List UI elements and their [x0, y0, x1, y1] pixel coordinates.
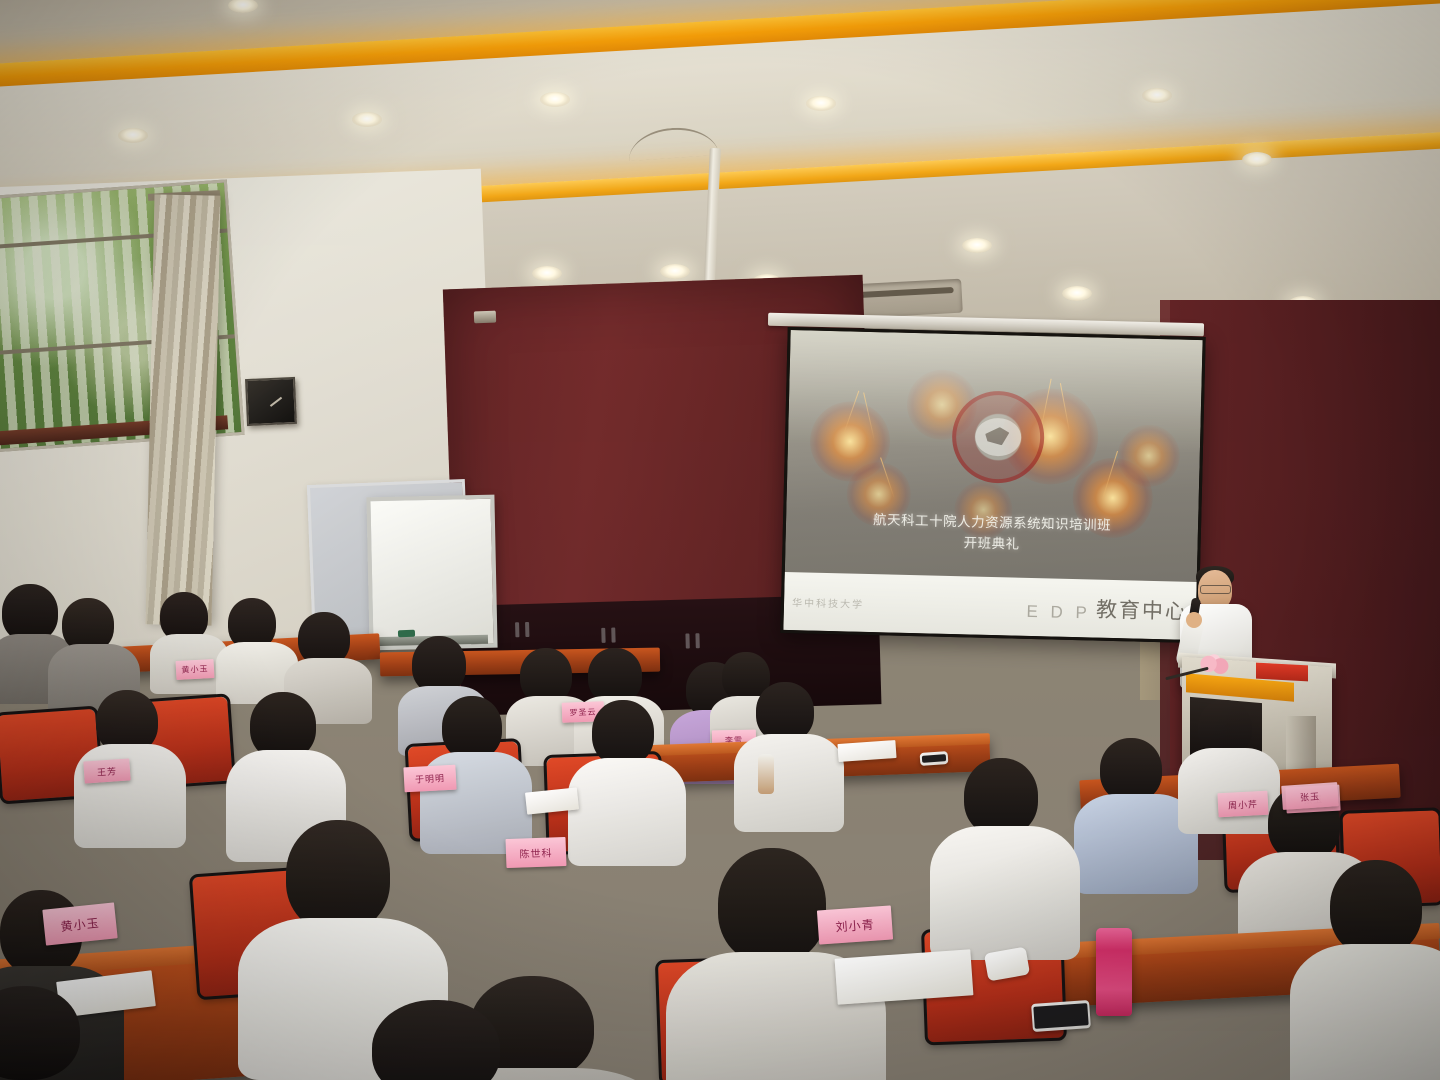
wall-speaker-icon: [474, 311, 496, 324]
slide-footer-org-logo: 华中科技大学: [792, 594, 864, 611]
handout-paper: [835, 949, 974, 1004]
attendee-torso: [1290, 944, 1440, 1080]
attendee-head: [718, 848, 826, 964]
attendee-head: [592, 700, 654, 766]
attendee-head: [1330, 860, 1422, 956]
water-bottle[interactable]: [1096, 928, 1132, 1016]
name-card: 于明明: [403, 765, 456, 793]
podium-stem: [1286, 716, 1316, 776]
whiteboard-front[interactable]: [366, 495, 497, 651]
downlight: [962, 238, 992, 253]
name-card: 王芳: [83, 758, 130, 783]
wall-clock-icon: [245, 377, 297, 426]
whiteboard-marker[interactable]: [398, 630, 415, 638]
downlight: [1062, 286, 1092, 301]
name-card: 周小芹: [1217, 791, 1268, 818]
speaker-hand: [1186, 612, 1202, 628]
slide-footer-edp-group: E D P 教育中心: [872, 588, 1189, 626]
cabinet-handle[interactable]: [601, 628, 605, 643]
name-card: 刘小青: [817, 905, 893, 944]
downlight: [352, 112, 382, 127]
curtain[interactable]: [146, 194, 221, 625]
smartphone[interactable]: [920, 751, 949, 766]
downlight: [1242, 152, 1272, 167]
podium-flowers: [1196, 654, 1232, 676]
downlight: [532, 266, 562, 281]
smartphone[interactable]: [1031, 1000, 1091, 1032]
screen-glare: [788, 330, 1203, 454]
attendee-head: [442, 696, 502, 760]
attendee-head: [1100, 738, 1162, 802]
cabinet-handle[interactable]: [695, 633, 699, 648]
cabinet-handle[interactable]: [685, 633, 689, 648]
attendee-torso: [74, 744, 186, 848]
attendee-head: [756, 682, 814, 742]
slide-footer-edp-cn: 教育中心: [1096, 594, 1189, 626]
projection-screen: 航天科工十院人力资源系统知识培训班 开班典礼 华中科技大学 E D P 教育中心: [780, 327, 1205, 643]
water-bottle[interactable]: [758, 754, 774, 794]
attendee-head: [964, 758, 1038, 836]
cabinet-handle[interactable]: [611, 628, 615, 643]
attendee-torso: [734, 734, 844, 832]
name-card: 黄小玉: [42, 902, 117, 945]
attendee-head: [286, 820, 390, 932]
downlight: [540, 92, 570, 107]
downlight: [660, 264, 690, 279]
attendee-torso: [930, 826, 1080, 960]
speaker-glasses-icon: [1200, 585, 1231, 594]
downlight: [806, 96, 836, 111]
slide-footer-banner: 华中科技大学 E D P 教育中心: [783, 572, 1196, 640]
name-card: 陈世科: [506, 837, 567, 868]
downlight: [118, 128, 148, 143]
classroom-photo: 航天科工十院人力资源系统知识培训班 开班典礼 华中科技大学 E D P 教育中心: [0, 0, 1440, 1080]
presentation-slide: 航天科工十院人力资源系统知识培训班 开班典礼 华中科技大学 E D P 教育中心: [783, 330, 1202, 640]
name-card: 张玉: [1281, 782, 1339, 810]
cabinet-handle[interactable]: [525, 622, 529, 637]
cabinet-handle[interactable]: [515, 622, 519, 637]
name-card: 黄小玉: [176, 659, 215, 680]
downlight: [1142, 88, 1172, 103]
attendee-torso: [568, 758, 686, 866]
slide-footer-edp-abbr: E D P: [1026, 602, 1091, 624]
podium-red-accent: [1256, 663, 1308, 682]
